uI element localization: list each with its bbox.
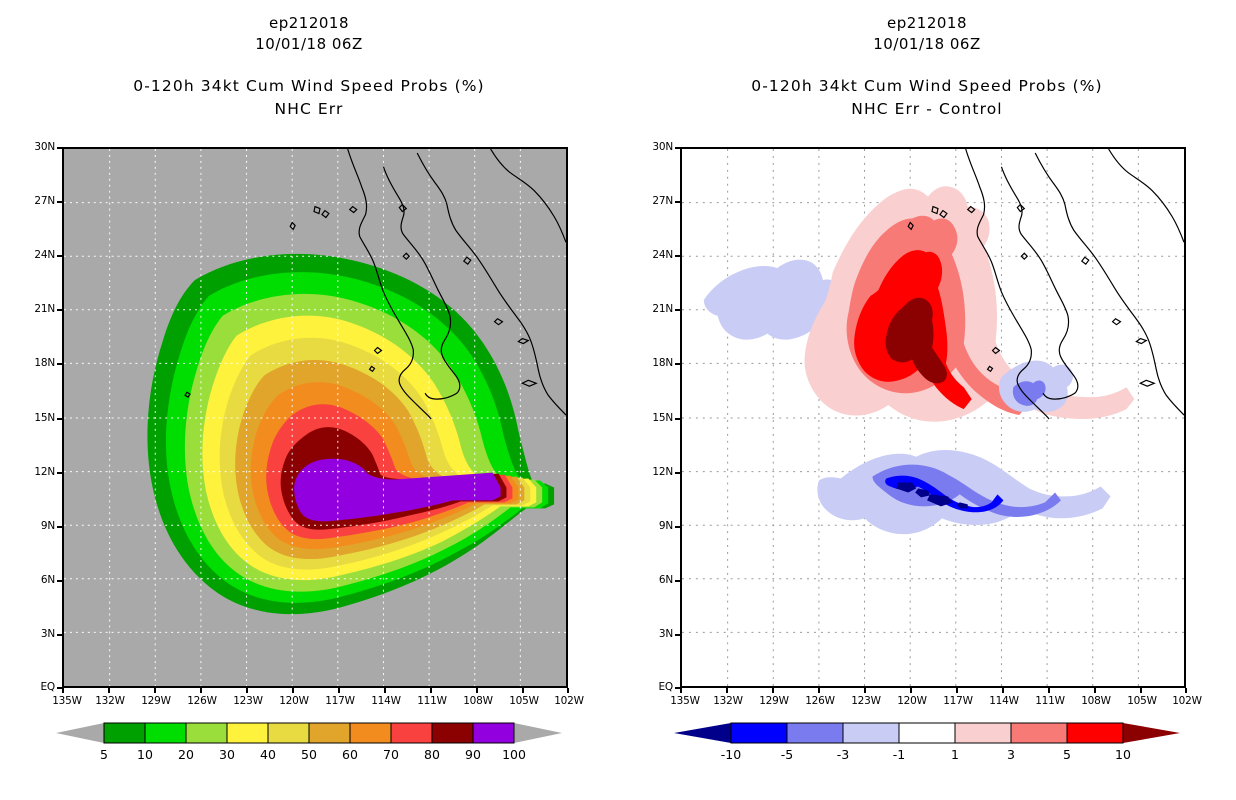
x-tick xyxy=(154,688,156,693)
chart-title: 0-120h 34kt Cum Wind Speed Probs (%) xyxy=(0,75,618,98)
colorbar-segment-10-20 xyxy=(145,723,186,743)
x-axis-label-123W: 123W xyxy=(233,695,263,707)
x-axis-label-111W: 111W xyxy=(417,695,447,707)
y-axis-label-6N: 6N xyxy=(22,574,55,586)
x-tick xyxy=(108,688,110,693)
chart-title: 0-120h 34kt Cum Wind Speed Probs (%) xyxy=(618,75,1236,98)
x-tick xyxy=(1185,688,1187,693)
y-tick xyxy=(675,580,680,582)
x-axis-label-123W: 123W xyxy=(851,695,881,707)
map-container-right: 30N 27N 24N 21N 18N 15N 12N 9N 6N 3N EQ … xyxy=(680,147,1186,688)
colorbar-swatches-right xyxy=(618,712,1236,752)
x-tick xyxy=(864,688,866,693)
colorbar-label-30: 30 xyxy=(219,747,235,762)
y-tick xyxy=(675,201,680,203)
colorbar-label-20: 20 xyxy=(178,747,194,762)
y-axis-label-3N: 3N xyxy=(22,628,55,640)
y-axis-label-24N: 24N xyxy=(640,249,673,261)
y-tick xyxy=(675,472,680,474)
colorbar-low-end-triangle xyxy=(56,723,104,743)
colorbar-segment-20-30 xyxy=(186,723,227,743)
colorbar-segment-neg3-neg1 xyxy=(843,723,899,743)
y-axis-label-27N: 27N xyxy=(22,195,55,207)
forecast-datetime: 10/01/18 06Z xyxy=(618,34,1236,55)
x-axis-label-102W: 102W xyxy=(554,695,584,707)
y-axis-label-12N: 12N xyxy=(640,466,673,478)
x-tick xyxy=(726,688,728,693)
x-axis-label-102W: 102W xyxy=(1172,695,1202,707)
panel-right-titles: ep212018 10/01/18 06Z 0-120h 34kt Cum Wi… xyxy=(618,0,1236,120)
y-tick xyxy=(675,418,680,420)
x-tick xyxy=(476,688,478,693)
colorbar-segment-80-90 xyxy=(432,723,473,743)
x-axis-label-117W: 117W xyxy=(325,695,355,707)
x-axis-label-108W: 108W xyxy=(1081,695,1111,707)
colorbar-label-60: 60 xyxy=(342,747,358,762)
x-tick xyxy=(1048,688,1050,693)
x-tick xyxy=(200,688,202,693)
colorbar-difference: -10 -5 -3 -1 1 3 5 10 xyxy=(618,712,1236,772)
y-axis-label-EQ: EQ xyxy=(22,681,55,693)
x-axis-label-105W: 105W xyxy=(509,695,539,707)
y-tick xyxy=(57,418,62,420)
colorbar-label-10: 10 xyxy=(1115,747,1131,762)
x-axis-label-135W: 135W xyxy=(52,695,82,707)
chart-subtitle: NHC Err xyxy=(0,98,618,120)
x-tick xyxy=(522,688,524,693)
y-axis-label-18N: 18N xyxy=(22,357,55,369)
colorbar-label-neg5: -5 xyxy=(781,747,793,762)
x-axis-label-114W: 114W xyxy=(989,695,1019,707)
y-tick xyxy=(675,634,680,636)
y-tick xyxy=(57,526,62,528)
panel-left-titles: ep212018 10/01/18 06Z 0-120h 34kt Cum Wi… xyxy=(0,0,618,120)
y-axis-label-6N: 6N xyxy=(640,574,673,586)
probability-contour-map xyxy=(64,149,566,686)
colorbar-high-end-triangle xyxy=(1123,723,1180,743)
forecast-datetime: 10/01/18 06Z xyxy=(0,34,618,55)
colorbar-segment-3-5 xyxy=(1011,723,1067,743)
x-axis-label-126W: 126W xyxy=(805,695,835,707)
x-axis-label-135W: 135W xyxy=(670,695,700,707)
storm-id: ep212018 xyxy=(0,13,618,34)
y-tick xyxy=(57,634,62,636)
x-tick xyxy=(246,688,248,693)
colorbar-label-neg3: -3 xyxy=(837,747,849,762)
x-tick xyxy=(910,688,912,693)
colorbar-label-100: 100 xyxy=(502,747,526,762)
storm-id: ep212018 xyxy=(618,13,1236,34)
x-tick xyxy=(772,688,774,693)
x-tick xyxy=(338,688,340,693)
colorbar-segments-left xyxy=(104,723,514,743)
y-axis-label-30N: 30N xyxy=(640,141,673,153)
colorbar-segment-neg1-1 xyxy=(899,723,955,743)
colorbar-label-50: 50 xyxy=(301,747,317,762)
chart-subtitle: NHC Err - Control xyxy=(618,98,1236,120)
colorbar-label-1: 1 xyxy=(951,747,959,762)
x-tick xyxy=(384,688,386,693)
y-axis-label-30N: 30N xyxy=(22,141,55,153)
y-tick xyxy=(675,309,680,311)
y-axis-label-9N: 9N xyxy=(640,520,673,532)
x-tick xyxy=(1094,688,1096,693)
colorbar-label-neg1: -1 xyxy=(893,747,905,762)
y-tick xyxy=(57,309,62,311)
x-tick xyxy=(680,688,682,693)
y-tick xyxy=(57,363,62,365)
colorbar-high-end-triangle xyxy=(514,723,562,743)
colorbar-label-5: 5 xyxy=(1063,747,1071,762)
colorbar-segment-70-80 xyxy=(391,723,432,743)
x-axis-label-129W: 129W xyxy=(759,695,789,707)
panel-nhc-err-minus-control: ep212018 10/01/18 06Z 0-120h 34kt Cum Wi… xyxy=(618,0,1236,800)
y-tick xyxy=(57,580,62,582)
y-tick xyxy=(57,201,62,203)
y-tick xyxy=(675,526,680,528)
y-axis-label-15N: 15N xyxy=(640,412,673,424)
colorbar-segments-right xyxy=(731,723,1123,743)
panel-nhc-err: ep212018 10/01/18 06Z 0-120h 34kt Cum Wi… xyxy=(0,0,618,800)
y-axis-label-12N: 12N xyxy=(22,466,55,478)
colorbar-segment-1-3 xyxy=(955,723,1011,743)
colorbar-swatches-left xyxy=(0,712,618,752)
x-tick xyxy=(1140,688,1142,693)
difference-contour-map xyxy=(682,149,1184,686)
y-tick xyxy=(57,472,62,474)
colorbar-probability: 5 10 20 30 40 50 60 70 80 90 100 xyxy=(0,712,618,772)
y-tick xyxy=(57,255,62,257)
x-tick xyxy=(430,688,432,693)
colorbar-segment-neg5-neg3 xyxy=(787,723,843,743)
x-axis-label-105W: 105W xyxy=(1127,695,1157,707)
map-frame-left xyxy=(62,147,568,688)
y-axis-label-9N: 9N xyxy=(22,520,55,532)
colorbar-label-3: 3 xyxy=(1007,747,1015,762)
x-tick xyxy=(567,688,569,693)
x-axis-label-120W: 120W xyxy=(897,695,927,707)
colorbar-label-10: 10 xyxy=(137,747,153,762)
y-tick xyxy=(675,255,680,257)
x-tick xyxy=(1002,688,1004,693)
map-frame-right xyxy=(680,147,1186,688)
colorbar-label-5: 5 xyxy=(100,747,108,762)
x-axis-label-129W: 129W xyxy=(141,695,171,707)
x-axis-label-132W: 132W xyxy=(95,695,125,707)
colorbar-segment-90-100 xyxy=(473,723,514,743)
y-axis-label-21N: 21N xyxy=(640,303,673,315)
colorbar-segment-5-10 xyxy=(104,723,145,743)
y-tick xyxy=(57,147,62,149)
colorbar-segment-neg10-neg5 xyxy=(731,723,787,743)
colorbar-low-end-triangle xyxy=(674,723,731,743)
x-tick xyxy=(292,688,294,693)
colorbar-segment-5-10 xyxy=(1067,723,1123,743)
x-axis-label-117W: 117W xyxy=(943,695,973,707)
x-tick xyxy=(62,688,64,693)
y-axis-label-24N: 24N xyxy=(22,249,55,261)
colorbar-label-70: 70 xyxy=(383,747,399,762)
colorbar-label-40: 40 xyxy=(260,747,276,762)
y-axis-label-EQ: EQ xyxy=(640,681,673,693)
colorbar-label-90: 90 xyxy=(465,747,481,762)
map-container-left: 30N 27N 24N 21N 18N 15N 12N 9N 6N 3N EQ … xyxy=(62,147,568,688)
x-axis-label-126W: 126W xyxy=(187,695,217,707)
colorbar-label-80: 80 xyxy=(424,747,440,762)
y-axis-label-21N: 21N xyxy=(22,303,55,315)
colorbar-segment-60-70 xyxy=(350,723,391,743)
x-axis-label-114W: 114W xyxy=(371,695,401,707)
y-axis-label-15N: 15N xyxy=(22,412,55,424)
y-axis-label-18N: 18N xyxy=(640,357,673,369)
y-tick xyxy=(675,147,680,149)
x-tick xyxy=(818,688,820,693)
x-tick xyxy=(956,688,958,693)
colorbar-segment-50-60 xyxy=(309,723,350,743)
y-tick xyxy=(675,363,680,365)
x-axis-label-120W: 120W xyxy=(279,695,309,707)
colorbar-segment-40-50 xyxy=(268,723,309,743)
x-axis-label-132W: 132W xyxy=(713,695,743,707)
y-axis-label-3N: 3N xyxy=(640,628,673,640)
colorbar-label-neg10: -10 xyxy=(721,747,741,762)
x-axis-label-111W: 111W xyxy=(1035,695,1065,707)
colorbar-segment-30-40 xyxy=(227,723,268,743)
y-axis-label-27N: 27N xyxy=(640,195,673,207)
x-axis-label-108W: 108W xyxy=(463,695,493,707)
